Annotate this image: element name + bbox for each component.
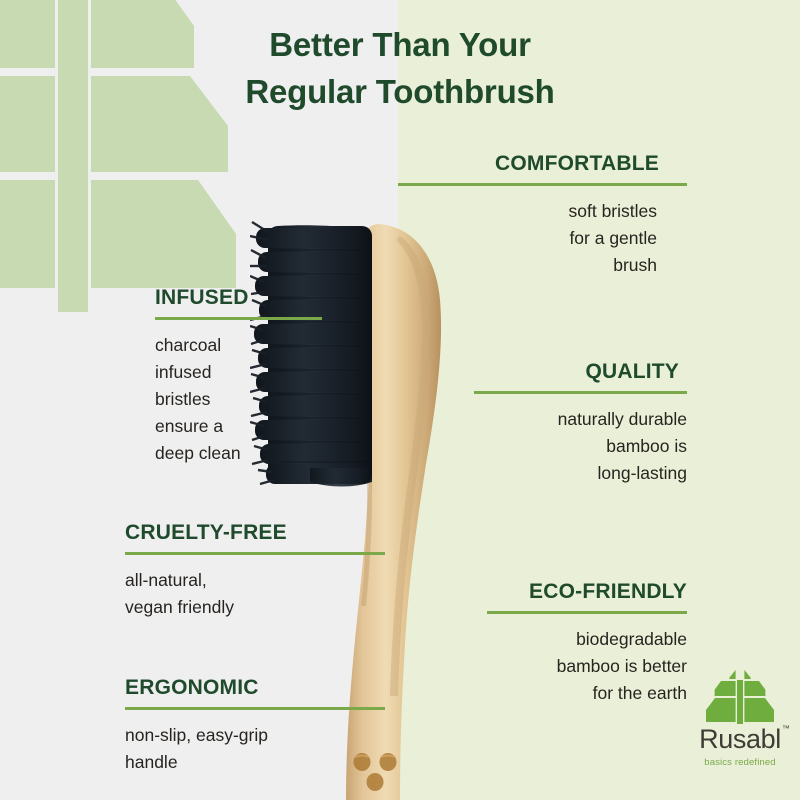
feature-comfortable: COMFORTABLE soft bristles for a gentle b… bbox=[398, 152, 687, 279]
brand-logo: Rusabl™ basics redefined bbox=[694, 668, 786, 786]
feature-comfortable-heading: COMFORTABLE bbox=[398, 152, 687, 176]
feature-eco-friendly-heading: ECO-FRIENDLY bbox=[487, 580, 687, 604]
feature-infused-line-1: charcoal bbox=[155, 332, 322, 359]
feature-quality-line-2: bamboo is bbox=[474, 433, 687, 460]
feature-ergonomic-line-2: handle bbox=[125, 749, 385, 776]
feature-cruelty-free-line-2: vegan friendly bbox=[125, 594, 385, 621]
brand-tagline: basics redefined bbox=[694, 757, 786, 768]
feature-infused-heading: INFUSED bbox=[155, 286, 322, 310]
title-line-1: Better Than Your bbox=[0, 22, 800, 69]
feature-quality-divider bbox=[474, 391, 687, 394]
feature-cruelty-free-divider bbox=[125, 552, 385, 555]
feature-quality-heading: QUALITY bbox=[474, 360, 687, 384]
feature-quality-line-3: long-lasting bbox=[474, 460, 687, 487]
leaf-icon bbox=[694, 668, 786, 724]
feature-infused-line-2: infused bbox=[155, 359, 322, 386]
feature-cruelty-free: CRUELTY-FREE all-natural, vegan friendly bbox=[125, 521, 385, 621]
feature-comfortable-line-3: brush bbox=[398, 252, 657, 279]
brand-name: Rusabl™ bbox=[694, 726, 786, 753]
feature-ergonomic-line-1: non-slip, easy-grip bbox=[125, 722, 385, 749]
brand-name-text: Rusabl bbox=[699, 724, 781, 754]
feature-infused-line-5: deep clean bbox=[155, 440, 322, 467]
feature-ergonomic-body: non-slip, easy-grip handle bbox=[125, 722, 385, 776]
feature-comfortable-body: soft bristles for a gentle brush bbox=[398, 198, 687, 279]
feature-quality-body: naturally durable bamboo is long-lasting bbox=[474, 406, 687, 487]
feature-infused-line-4: ensure a bbox=[155, 413, 322, 440]
feature-quality-line-1: naturally durable bbox=[474, 406, 687, 433]
feature-comfortable-divider bbox=[398, 183, 687, 186]
feature-eco-friendly-line-2: bamboo is better bbox=[487, 653, 687, 680]
feature-cruelty-free-body: all-natural, vegan friendly bbox=[125, 567, 385, 621]
feature-eco-friendly-body: biodegradable bamboo is better for the e… bbox=[487, 626, 687, 707]
feature-ergonomic-heading: ERGONOMIC bbox=[125, 676, 385, 700]
feature-infused-line-3: bristles bbox=[155, 386, 322, 413]
title-line-2: Regular Toothbrush bbox=[0, 69, 800, 116]
feature-ergonomic-divider bbox=[125, 707, 385, 710]
page-title: Better Than Your Regular Toothbrush bbox=[0, 22, 800, 116]
feature-infused-body: charcoal infused bristles ensure a deep … bbox=[155, 332, 322, 467]
feature-infused: INFUSED charcoal infused bristles ensure… bbox=[155, 286, 322, 467]
feature-eco-friendly-line-3: for the earth bbox=[487, 680, 687, 707]
trademark-symbol: ™ bbox=[782, 725, 790, 733]
feature-comfortable-line-1: soft bristles bbox=[398, 198, 657, 225]
feature-eco-friendly-divider bbox=[487, 611, 687, 614]
feature-comfortable-line-2: for a gentle bbox=[398, 225, 657, 252]
feature-cruelty-free-line-1: all-natural, bbox=[125, 567, 385, 594]
feature-eco-friendly: ECO-FRIENDLY biodegradable bamboo is bet… bbox=[487, 580, 687, 707]
feature-quality: QUALITY naturally durable bamboo is long… bbox=[474, 360, 687, 487]
feature-ergonomic: ERGONOMIC non-slip, easy-grip handle bbox=[125, 676, 385, 776]
feature-cruelty-free-heading: CRUELTY-FREE bbox=[125, 521, 385, 545]
infographic-canvas: Better Than Your Regular Toothbrush bbox=[0, 0, 800, 800]
feature-eco-friendly-line-1: biodegradable bbox=[487, 626, 687, 653]
feature-infused-divider bbox=[155, 317, 322, 320]
